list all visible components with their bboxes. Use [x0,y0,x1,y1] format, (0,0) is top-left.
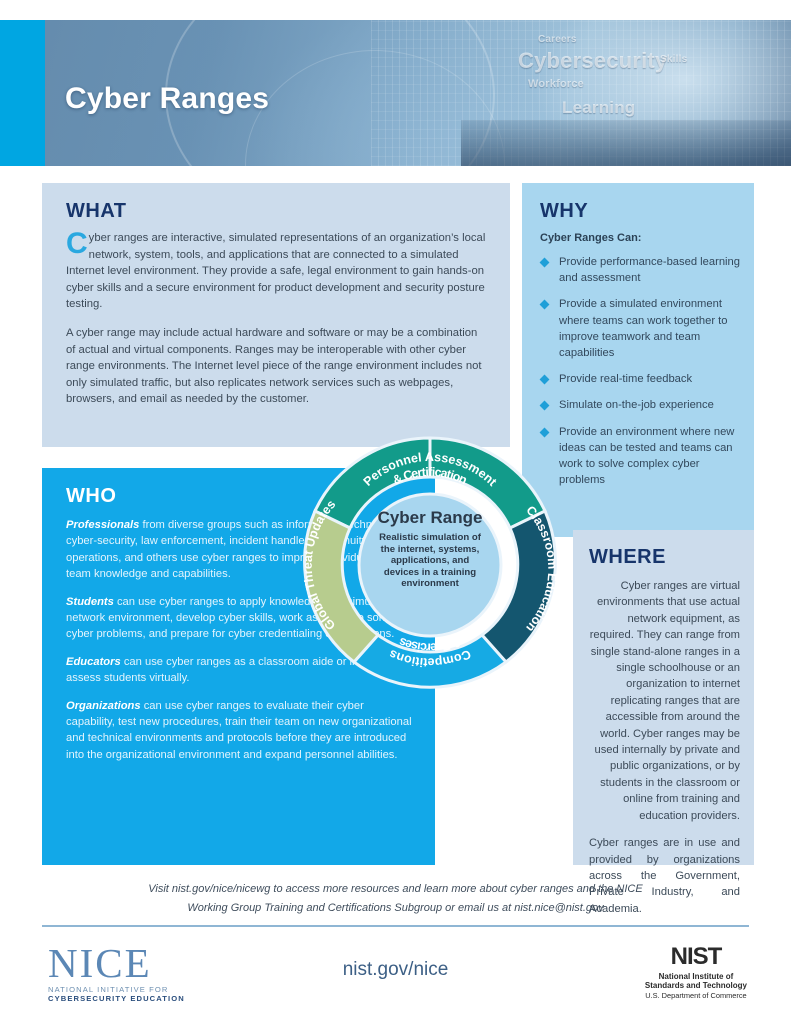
footer-note-line-2: Working Group Training and Certification… [42,899,749,918]
cyber-range-wheel-diagram: Personnel Assessment & Certification Cla… [297,432,563,698]
header-word-cybersecurity: Cybersecurity [518,48,667,74]
header-accent-bar [0,20,45,166]
diamond-bullet-icon [540,300,550,310]
why-bullet-text: Provide an environment where new ideas c… [559,426,734,487]
nice-logo-tagline-2: CYBERSECURITY EDUCATION [48,994,185,1003]
nist-logo-line-2: Standards and Technology [645,981,747,990]
header-word-careers: Careers [538,34,577,45]
page-header: Careers Cybersecurity Skills Workforce L… [0,20,791,166]
who-group-organizations: Organizations can use cyber ranges to ev… [66,698,413,764]
footer-logo-row: NICE NATIONAL INITIATIVE FOR CYBERSECURI… [0,935,791,1020]
what-panel: WHAT Cyber ranges are interactive, simul… [42,183,510,447]
wheel-segment-competitions-exercises: Competitions & Exercises [354,635,506,688]
nice-logo-tagline-1: NATIONAL INITIATIVE FOR [48,985,185,994]
why-bullet-text: Provide a simulated environment where te… [559,298,728,359]
why-bullet-list: Provide performance-based learning and a… [540,254,740,488]
why-bullet-item: Provide a simulated environment where te… [540,296,740,361]
who-group-name: Educators [66,656,121,668]
header-word-learning: Learning [562,98,635,118]
nist-logo-line-1: National Institute of [645,972,747,981]
header-word-cloud: Careers Cybersecurity Skills Workforce L… [500,24,730,144]
diamond-bullet-icon [540,375,550,385]
footer-note-line-1: Visit nist.gov/nice/nicewg to access mor… [42,880,749,899]
where-heading: WHERE [589,546,740,569]
where-paragraph-1: Cyber ranges are virtual environments th… [589,578,740,824]
who-group-name: Organizations [66,700,141,712]
why-lead-text: Cyber Ranges Can: [540,232,740,244]
why-bullet-item: Provide performance-based learning and a… [540,254,740,286]
why-bullet-text: Provide real-time feedback [559,373,692,385]
footer-divider [42,925,749,927]
header-word-workforce: Workforce [528,78,584,90]
diamond-bullet-icon [540,401,550,411]
diamond-bullet-icon [540,258,550,268]
who-group-name: Students [66,596,114,608]
what-heading: WHAT [66,200,486,223]
what-dropcap: C [66,231,89,257]
why-bullet-item: Simulate on-the-job experience [540,397,740,413]
what-paragraph-1: Cyber ranges are interactive, simulated … [66,230,486,313]
what-paragraph-1-text: yber ranges are interactive, simulated r… [66,232,485,310]
why-bullet-item: Provide an environment where new ideas c… [540,424,740,489]
why-bullet-text: Provide performance-based learning and a… [559,256,740,284]
page-title: Cyber Ranges [65,82,269,116]
where-panel: WHERE Cyber ranges are virtual environme… [573,530,754,865]
nist-logo-wordmark: NIST [645,945,747,969]
nist-logo-line-3: U.S. Department of Commerce [645,991,747,1000]
header-word-skills: Skills [660,54,687,65]
why-bullet-item: Provide real-time feedback [540,371,740,387]
why-heading: WHY [540,200,740,223]
nist-logo: NIST National Institute of Standards and… [645,945,747,1000]
who-group-name: Professionals [66,519,139,531]
why-bullet-text: Simulate on-the-job experience [559,399,714,411]
footer-note: Visit nist.gov/nice/nicewg to access mor… [42,880,749,918]
what-paragraph-2: A cyber range may include actual hardwar… [66,325,486,408]
wheel-center-hub [359,494,501,636]
